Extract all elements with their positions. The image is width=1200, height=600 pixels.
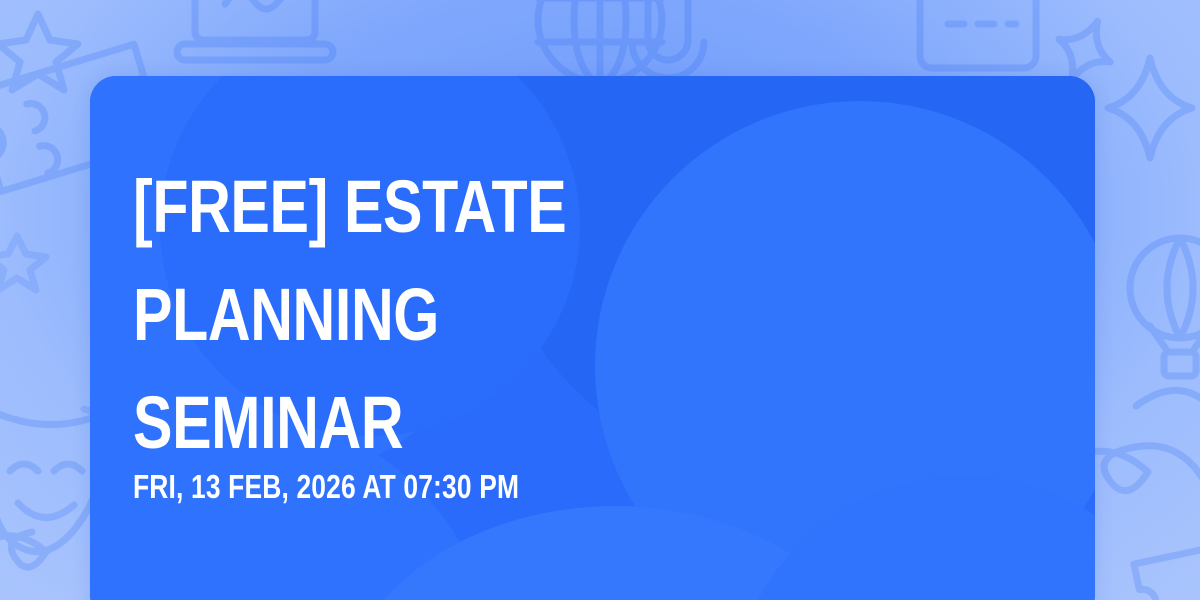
event-title: [FREE] Estate Planning Seminar — [133, 153, 741, 477]
balloon-icon — [1130, 238, 1200, 376]
event-date: Fri, 13 Feb, 2026 at 07:30 PM — [133, 467, 519, 507]
star-icon — [0, 236, 46, 290]
event-banner: [FREE] Estate Planning Seminar Fri, 13 F… — [0, 0, 1200, 600]
event-card[interactable]: [FREE] Estate Planning Seminar Fri, 13 F… — [90, 76, 1095, 600]
calendar-icon — [920, 0, 1036, 68]
sparkle-icon — [1108, 58, 1192, 158]
event-card-content: [FREE] Estate Planning Seminar Fri, 13 F… — [133, 76, 1055, 600]
star-icon — [0, 14, 78, 90]
ticket-icon — [1134, 533, 1200, 600]
laptop-icon — [177, 0, 333, 60]
